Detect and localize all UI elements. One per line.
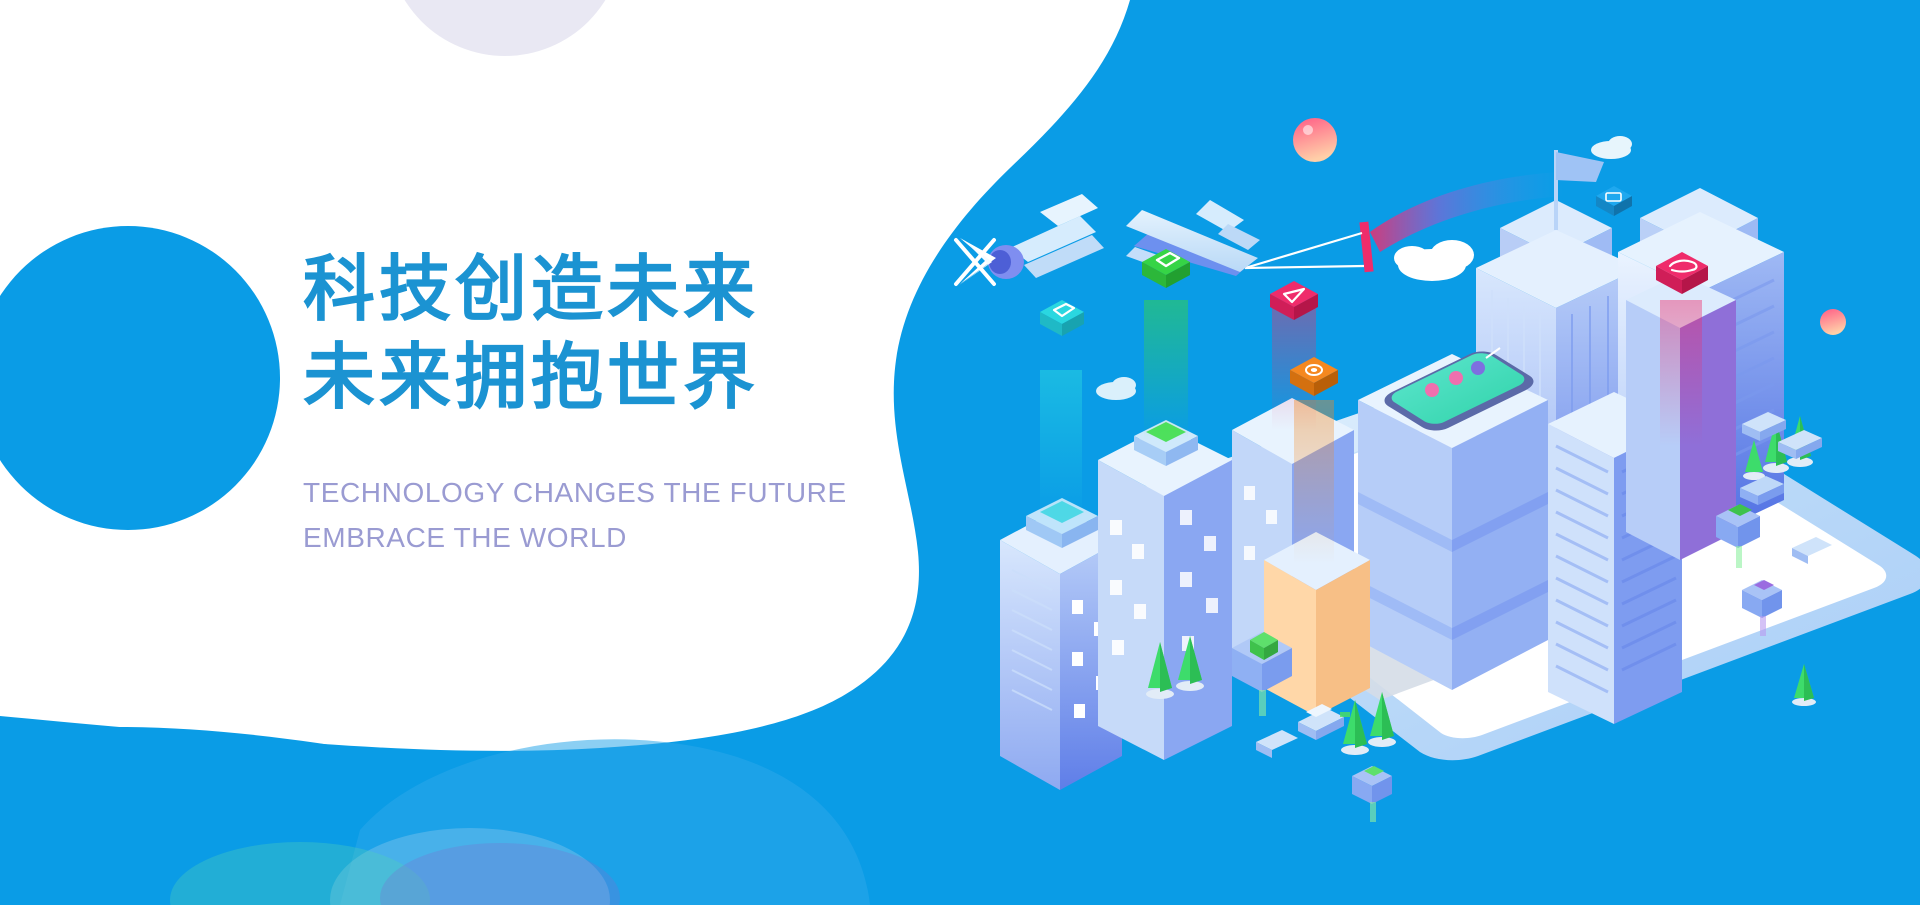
banner-artwork — [0, 0, 1920, 905]
cyan-beam — [1040, 370, 1082, 520]
headline-line-2: 未来拥抱世界 — [303, 334, 923, 422]
subtitle-line-2: EMBRACE THE WORLD — [303, 515, 923, 560]
page-title: 科技创造未来 未来拥抱世界 — [303, 246, 923, 422]
hero-banner: 科技创造未来 未来拥抱世界 TECHNOLOGY CHANGES THE FUT… — [0, 0, 1920, 905]
orange-beam — [1294, 400, 1334, 564]
subtitle-line-1: TECHNOLOGY CHANGES THE FUTURE — [303, 470, 923, 515]
hero-copy: 科技创造未来 未来拥抱世界 TECHNOLOGY CHANGES THE FUT… — [303, 246, 923, 560]
pink-sphere — [1293, 118, 1337, 162]
peach-sphere — [1820, 309, 1846, 335]
hero-subtitle: TECHNOLOGY CHANGES THE FUTURE EMBRACE TH… — [303, 470, 923, 561]
pink-sphere-glint — [1303, 125, 1313, 135]
green-beam — [1144, 300, 1188, 440]
headline-line-1: 科技创造未来 — [303, 246, 923, 334]
phone-icon-beam — [1660, 300, 1702, 446]
